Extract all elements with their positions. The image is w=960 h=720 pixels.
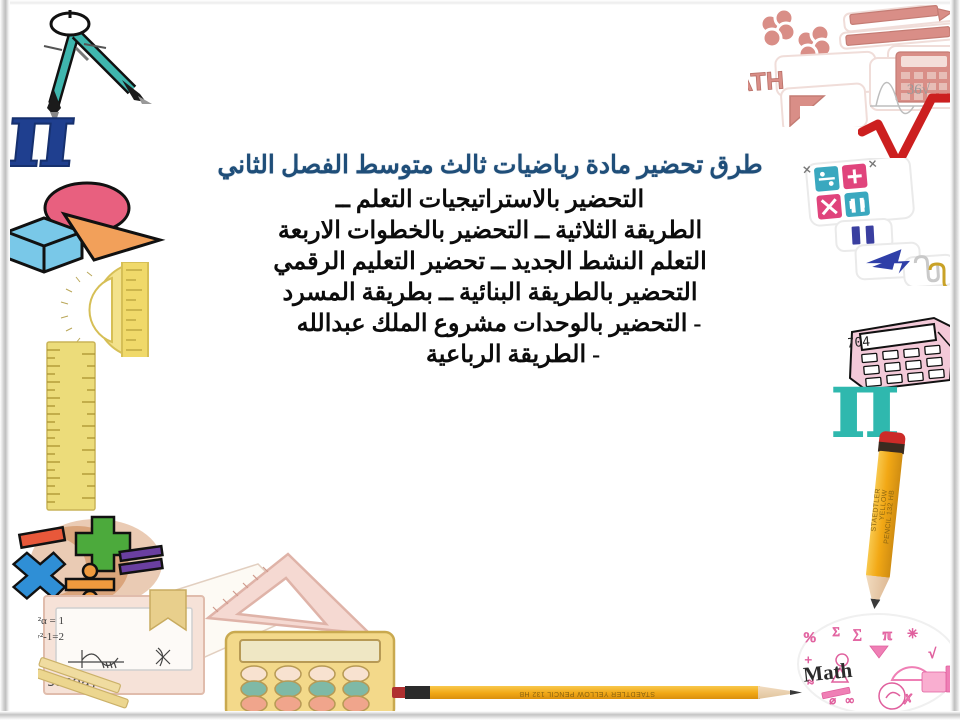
- body-line-6: - الطريقة الرباعية: [180, 340, 800, 371]
- svg-text:√: √: [928, 647, 936, 662]
- svg-text:∑: ∑: [853, 626, 862, 641]
- frame-edge-bottom: [0, 711, 960, 720]
- svg-text:%: %: [804, 630, 817, 646]
- slide-canvas: π: [0, 0, 960, 720]
- notebook-formula-1: sin²α+ cos²α = 1: [38, 615, 64, 627]
- body-line-1: التحضير بالاستراتيجيات التعلم ــ: [180, 185, 800, 216]
- svg-text:Σ: Σ: [832, 624, 840, 639]
- frame-edge-right: [950, 0, 960, 720]
- slide-text-block: طرق تحضير مادة رياضيات ثالث متوسط الفصل …: [180, 150, 800, 371]
- frame-edge-left: [0, 0, 10, 720]
- page-title: طرق تحضير مادة رياضيات ثالث متوسط الفصل …: [180, 150, 800, 181]
- frame-edge-top: [0, 0, 960, 5]
- notebook-formula-2: x²+y²-1=2: [38, 631, 64, 643]
- body-line-2: الطريقة الثلاثية ــ التحضير بالخطوات الا…: [180, 216, 800, 247]
- math-doodle-word: Math: [802, 658, 854, 687]
- body-line-4: التحضير بالطريقة البنائية ــ بطريقة المس…: [180, 278, 800, 309]
- body-line-3: التعلم النشط الجديد ــ تحضير التعليم الر…: [180, 247, 800, 278]
- pi-symbol-blue-icon: π: [3, 88, 80, 180]
- svg-text:π: π: [883, 625, 893, 644]
- calculator-yellow-icon: [222, 628, 402, 720]
- pencil-horizontal-staedtler-icon: STAEDTLER YELLOW PENCIL 132 HB: [392, 686, 812, 700]
- ruler-vertical-yellow-icon: [43, 340, 99, 512]
- operator-sticker-tiles-icon: [800, 158, 960, 286]
- svg-text:∞: ∞: [845, 693, 854, 707]
- svg-text:✳: ✳: [907, 626, 918, 641]
- body-line-5: - التحضير بالوحدات مشروع الملك عبدالله: [180, 309, 800, 340]
- collage-math-word: MATH: [748, 66, 785, 99]
- math-doodle-circle-icon: % Σ ∑ π ✳ + √ ≈ ✓ ∞ ✗ ⌀ Math: [796, 612, 960, 716]
- 3d-solid-shapes-icon: [2, 180, 172, 275]
